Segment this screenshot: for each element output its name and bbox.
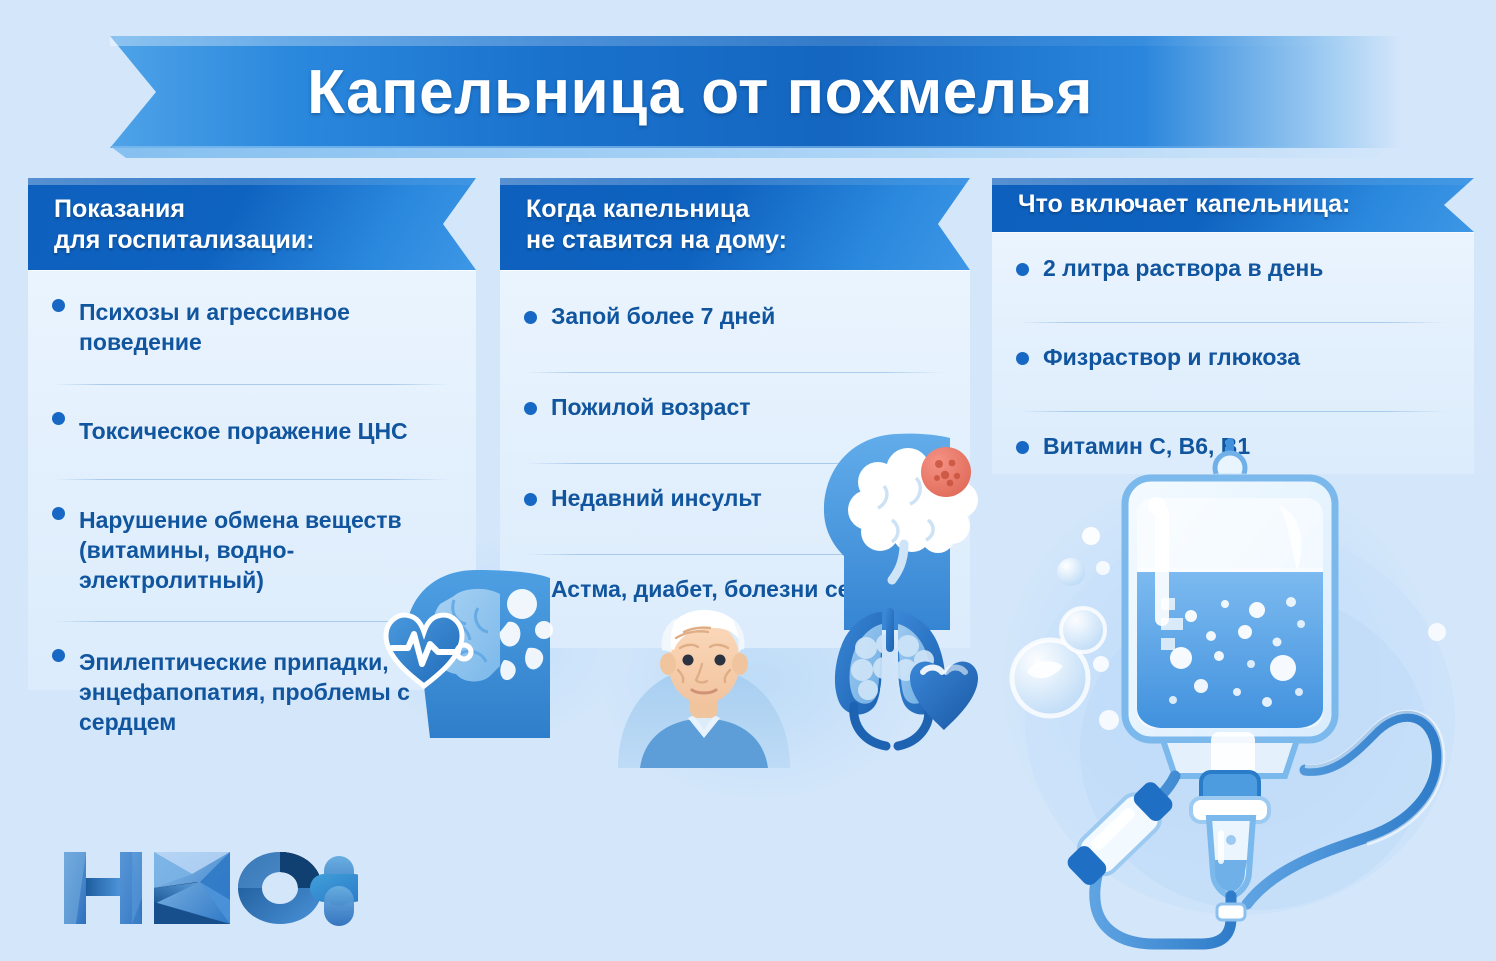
elderly-man-avatar-icon (604, 598, 804, 768)
card-contents-heading-line1: Что включает капельница: (1018, 189, 1474, 220)
card-contraindications-header: Когда капельница не ставится на дому: (500, 178, 970, 270)
bullet-dot-icon (524, 311, 537, 324)
title-banner: Капельница от похмелья (110, 36, 1400, 148)
iv-drip-bag-illustration (1005, 420, 1475, 950)
list-item-label: Психозы и агрессивное поведение (79, 292, 458, 364)
card-contraindications-heading-line2: не ставится на дому: (526, 225, 970, 256)
logo-letter-e (154, 852, 230, 924)
list-item-label: Недавний инсульт (551, 484, 762, 514)
list-item-label: Пожилой возраст (551, 393, 751, 423)
list-item-label: Запой более 7 дней (551, 302, 775, 332)
list-item: 2 литра раствора в день (992, 254, 1474, 302)
bullet-dot-icon (52, 507, 65, 520)
list-item: Психозы и агрессивное поведение (28, 292, 476, 364)
logo-letter-n (64, 852, 142, 924)
card-contraindications-heading-line1: Когда капельница (526, 194, 970, 225)
lungs-heart-icon (790, 600, 990, 760)
list-item-label: Токсическое поражение ЦНС (79, 411, 408, 453)
bullet-dot-icon (52, 412, 65, 425)
head-brain-stroke-icon (800, 420, 1010, 630)
card-contents-header: Что включает капельница: (992, 178, 1474, 232)
card-indications-heading-line2: для госпитализации: (54, 225, 476, 256)
logo-letter-o (238, 852, 322, 924)
bullet-dot-icon (1016, 352, 1029, 365)
brand-logo-neo-plus (58, 838, 358, 938)
list-item: Запой более 7 дней (500, 302, 970, 352)
bullet-dot-icon (524, 493, 537, 506)
bullet-dot-icon (52, 299, 65, 312)
bullet-dot-icon (1016, 263, 1029, 276)
infographic-canvas: Капельница от похмелья Показания для гос… (0, 0, 1496, 961)
list-item: Физраствор и глюкоза (992, 343, 1474, 391)
list-item: Токсическое поражение ЦНС (28, 405, 476, 459)
bullet-dot-icon (52, 649, 65, 662)
list-item-label: 2 литра раствора в день (1043, 254, 1323, 284)
card-indications-heading-line1: Показания (54, 194, 476, 225)
head-brain-heartbeat-icon (368, 548, 618, 738)
list-item-label: Физраствор и глюкоза (1043, 343, 1300, 373)
bullet-dot-icon (524, 402, 537, 415)
card-indications-header: Показания для госпитализации: (28, 178, 476, 270)
page-title: Капельница от похмелья (110, 36, 1400, 148)
logo-plus-icon (310, 856, 358, 926)
